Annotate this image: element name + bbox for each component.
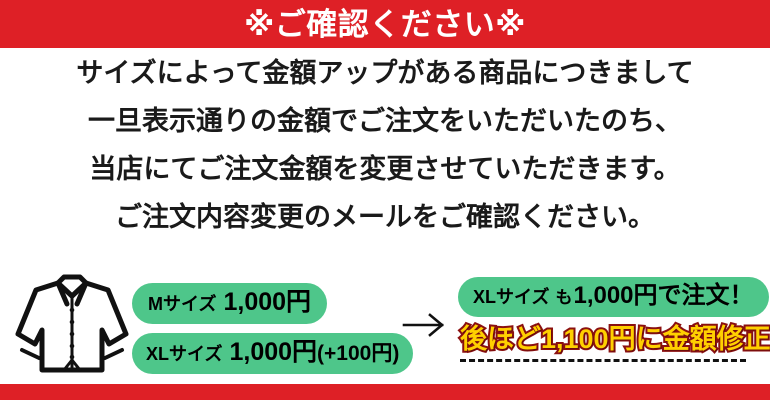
- price-badge-xl: XLサイズ 1,000円 (+100円): [132, 333, 413, 374]
- header-bar: ※ご確認ください※: [0, 0, 770, 48]
- message-line: ご注文内容変更のメールをご確認ください。: [0, 204, 770, 231]
- size-label: XLサイズ: [473, 288, 549, 306]
- price-surcharge: (+100円): [317, 343, 399, 364]
- message-line: 一旦表示通りの金額でご注文をいただいたのち、: [0, 108, 770, 135]
- footer-bar: [0, 384, 770, 400]
- price-badge-m: Mサイズ 1,000円: [132, 283, 327, 324]
- page-title: ※ご確認ください※: [244, 9, 526, 40]
- message-line: 当店にてご注文金額を変更させていただきます。: [0, 156, 770, 183]
- notice-banner: ※ご確認ください※ サイズによって金額アップがある商品につきまして 一旦表示通り…: [0, 0, 770, 400]
- after-price-group: XLサイズ も 1,000円で注文！ 後ほど1,100円に金額修正: [458, 277, 770, 362]
- arrow-right-icon: [398, 310, 454, 340]
- correction-note: 後ほど1,100円に金額修正: [460, 326, 770, 362]
- price-comparison-area: Mサイズ 1,000円 XLサイズ 1,000円 (+100円) XLサイズ: [0, 266, 770, 384]
- message-line: サイズによって金額アップがある商品につきまして: [0, 60, 770, 87]
- price-badge-after: XLサイズ も 1,000円で注文！: [458, 277, 769, 317]
- correction-underline: [460, 359, 746, 362]
- price-value: 1,000円: [229, 340, 317, 365]
- price-order-phrase: 1,000円で注文！: [573, 284, 753, 308]
- before-price-group: Mサイズ 1,000円 XLサイズ 1,000円 (+100円): [132, 283, 413, 374]
- shirt-icon: [14, 272, 130, 382]
- correction-text: 後ほど1,100円に金額修正: [460, 326, 770, 353]
- size-label: Mサイズ: [148, 295, 216, 313]
- size-label: XLサイズ: [146, 345, 222, 363]
- message-block: サイズによって金額アップがある商品につきまして 一旦表示通りの金額でご注文をいた…: [0, 60, 770, 252]
- particle-label: も: [555, 289, 572, 306]
- price-value: 1,000円: [223, 290, 311, 315]
